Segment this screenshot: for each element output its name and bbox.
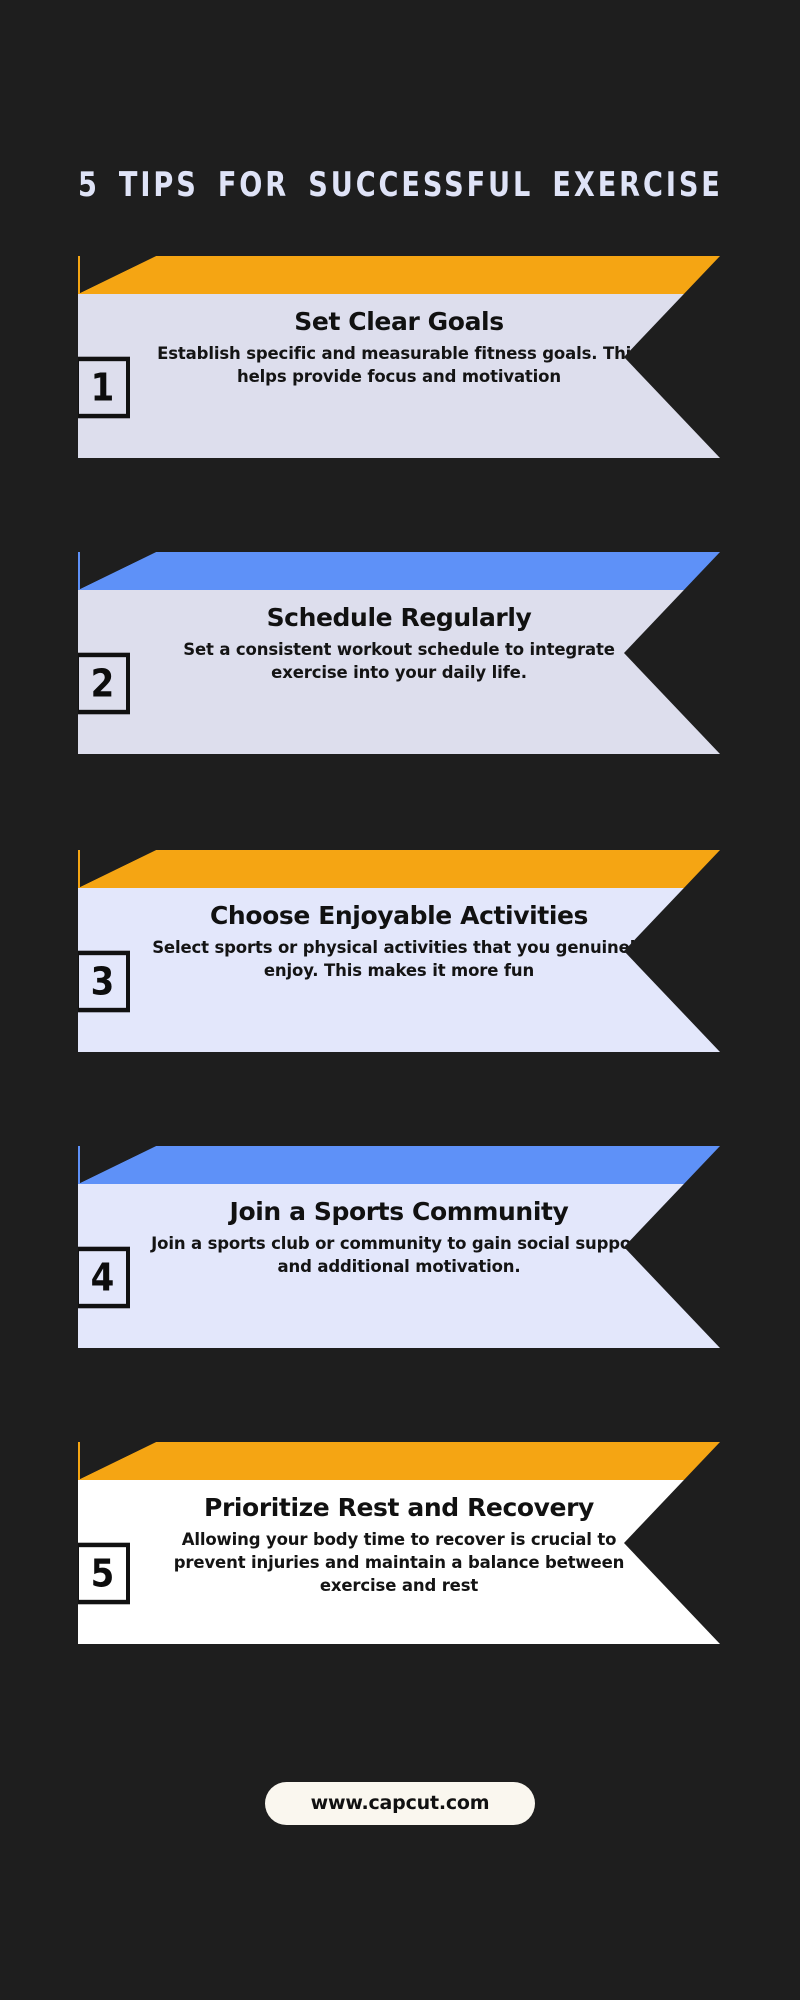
tip-card: 1Set Clear GoalsEstablish specific and m… bbox=[78, 256, 720, 458]
tip-text-column: Prioritize Rest and RecoveryAllowing you… bbox=[78, 1494, 720, 1598]
tip-card-content: 4Join a Sports CommunityJoin a sports cl… bbox=[78, 1198, 720, 1278]
tip-number: 4 bbox=[91, 1258, 115, 1296]
tip-card-banner bbox=[78, 1442, 720, 1480]
tip-card-edge-accent bbox=[78, 850, 80, 888]
tip-card: 5Prioritize Rest and RecoveryAllowing yo… bbox=[78, 1442, 720, 1644]
tip-number: 5 bbox=[91, 1554, 115, 1592]
tip-number-badge: 2 bbox=[75, 653, 130, 715]
tip-card-edge-accent bbox=[78, 552, 80, 590]
tip-description: Establish specific and measurable fitnes… bbox=[150, 342, 648, 389]
tip-card-banner bbox=[78, 850, 720, 888]
tip-number-badge: 3 bbox=[75, 951, 130, 1013]
tip-card-body: 2Schedule RegularlySet a consistent work… bbox=[78, 590, 720, 754]
tip-title: Prioritize Rest and Recovery bbox=[150, 1494, 648, 1522]
tip-text-column: Join a Sports CommunityJoin a sports clu… bbox=[78, 1198, 720, 1278]
tip-number-badge: 4 bbox=[75, 1247, 130, 1309]
tip-title: Set Clear Goals bbox=[150, 308, 648, 336]
tip-card-banner bbox=[78, 256, 720, 294]
tip-card-content: 1Set Clear GoalsEstablish specific and m… bbox=[78, 308, 720, 388]
tip-description: Allowing your body time to recover is cr… bbox=[150, 1528, 648, 1598]
infographic-poster: 5 TIPS FOR SUCCESSFUL EXERCISE 1Set Clea… bbox=[0, 0, 800, 2000]
tip-description: Set a consistent workout schedule to int… bbox=[150, 638, 648, 685]
tip-card-content: 2Schedule RegularlySet a consistent work… bbox=[78, 604, 720, 684]
tip-number-badge: 5 bbox=[75, 1543, 130, 1605]
tip-card-ribbon: 5Prioritize Rest and RecoveryAllowing yo… bbox=[78, 1442, 720, 1644]
tip-number: 1 bbox=[91, 368, 115, 406]
tip-card-edge-accent bbox=[78, 256, 80, 294]
tip-number: 2 bbox=[91, 664, 115, 702]
tip-text-column: Schedule RegularlySet a consistent worko… bbox=[78, 604, 720, 684]
tip-card: 2Schedule RegularlySet a consistent work… bbox=[78, 552, 720, 754]
tip-card-ribbon: 4Join a Sports CommunityJoin a sports cl… bbox=[78, 1146, 720, 1348]
website-url-badge[interactable]: www.capcut.com bbox=[265, 1782, 536, 1825]
tip-description: Join a sports club or community to gain … bbox=[150, 1232, 648, 1279]
tip-card-content: 5Prioritize Rest and RecoveryAllowing yo… bbox=[78, 1494, 720, 1598]
tip-card-edge-accent bbox=[78, 1146, 80, 1184]
tip-card-ribbon: 3Choose Enjoyable ActivitiesSelect sport… bbox=[78, 850, 720, 1052]
tip-card: 4Join a Sports CommunityJoin a sports cl… bbox=[78, 1146, 720, 1348]
tip-number-badge: 1 bbox=[75, 357, 130, 419]
tip-card-banner bbox=[78, 552, 720, 590]
tip-number: 3 bbox=[91, 962, 115, 1000]
tip-title: Join a Sports Community bbox=[150, 1198, 648, 1226]
footer: www.capcut.com bbox=[0, 1782, 800, 1825]
tip-text-column: Set Clear GoalsEstablish specific and me… bbox=[78, 308, 720, 388]
tip-card-body: 1Set Clear GoalsEstablish specific and m… bbox=[78, 294, 720, 458]
tip-text-column: Choose Enjoyable ActivitiesSelect sports… bbox=[78, 902, 720, 982]
tip-card-banner bbox=[78, 1146, 720, 1184]
tip-card-body: 3Choose Enjoyable ActivitiesSelect sport… bbox=[78, 888, 720, 1052]
tip-card-list: 1Set Clear GoalsEstablish specific and m… bbox=[0, 0, 800, 2000]
tip-card-ribbon: 2Schedule RegularlySet a consistent work… bbox=[78, 552, 720, 754]
tip-card-ribbon: 1Set Clear GoalsEstablish specific and m… bbox=[78, 256, 720, 458]
tip-card: 3Choose Enjoyable ActivitiesSelect sport… bbox=[78, 850, 720, 1052]
tip-card-content: 3Choose Enjoyable ActivitiesSelect sport… bbox=[78, 902, 720, 982]
tip-title: Choose Enjoyable Activities bbox=[150, 902, 648, 930]
tip-description: Select sports or physical activities tha… bbox=[150, 936, 648, 983]
tip-card-body: 4Join a Sports CommunityJoin a sports cl… bbox=[78, 1184, 720, 1348]
tip-card-edge-accent bbox=[78, 1442, 80, 1480]
tip-title: Schedule Regularly bbox=[150, 604, 648, 632]
tip-card-body: 5Prioritize Rest and RecoveryAllowing yo… bbox=[78, 1480, 720, 1644]
